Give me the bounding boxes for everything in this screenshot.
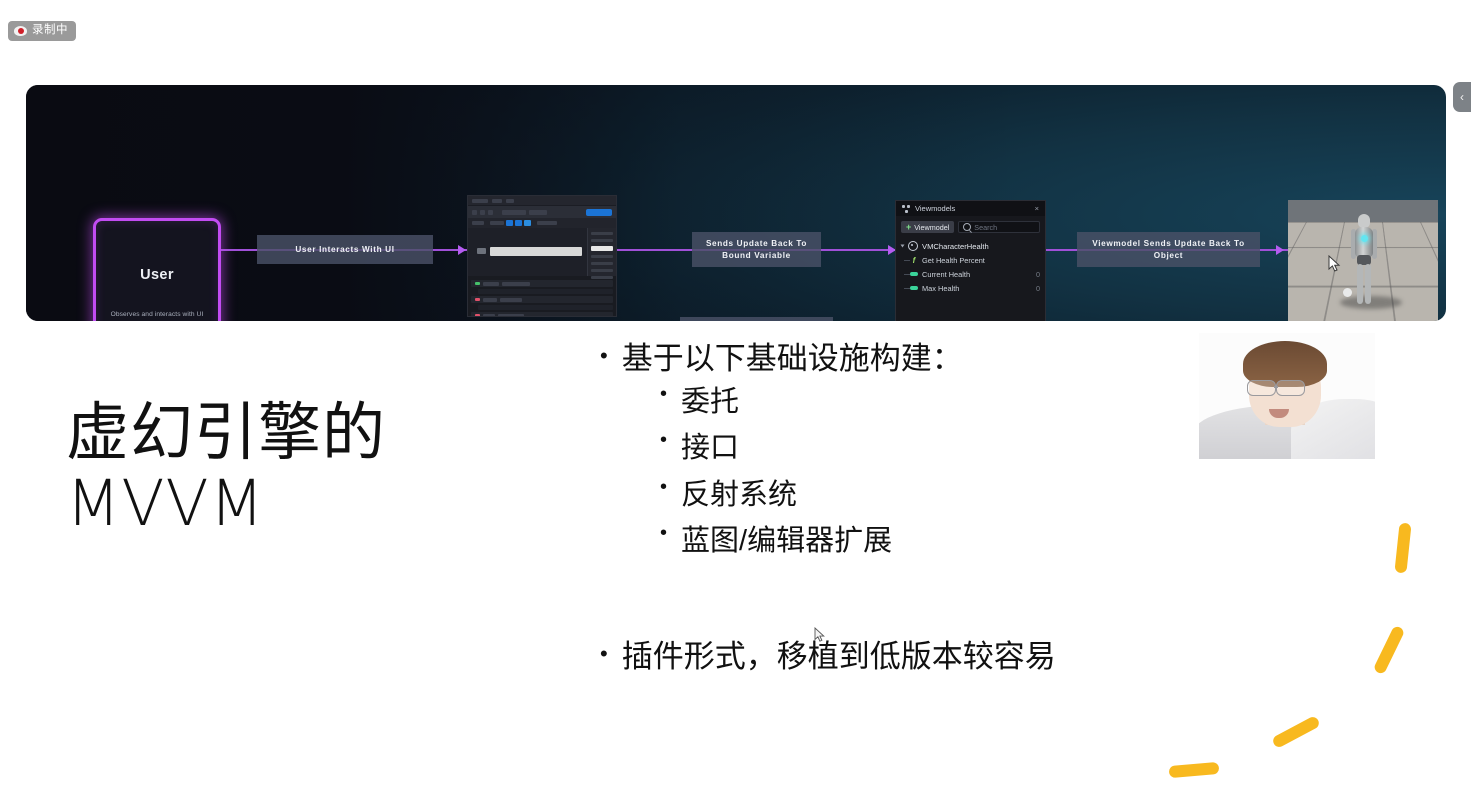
viewmodel-search-input[interactable]: Search <box>958 221 1040 233</box>
bullet-marker: • <box>660 379 667 409</box>
tree-root-label: VMCharacterHealth <box>922 242 989 251</box>
close-icon[interactable]: × <box>1035 204 1039 213</box>
record-dot-icon <box>14 26 27 36</box>
tree-row-root[interactable]: VMCharacterHealth <box>901 239 1040 253</box>
variable-pill-icon <box>910 272 918 276</box>
edge-label-viewmodel-sends-update: Viewmodel Sends Update Back To Object <box>1077 232 1260 267</box>
bullet-text: 委托 <box>681 379 739 425</box>
bullet-item-blueprint-editor: • 蓝图/编辑器扩展 <box>660 518 1200 564</box>
user-node-title: User <box>140 267 174 283</box>
diagram-node-viewmodel: Viewmodels × + Viewmodel Search <box>895 200 1046 321</box>
function-icon: f <box>910 256 918 265</box>
edge-arrow-user-to-umg <box>458 245 466 255</box>
decorative-dash-2 <box>1373 625 1406 675</box>
tree-item-value: 0 <box>1036 270 1040 279</box>
bullet-item-reflection: • 反射系统 <box>660 472 1200 518</box>
bullet-item-interface: • 接口 <box>660 425 1200 471</box>
bullet-text: 反射系统 <box>681 472 797 518</box>
viewmodels-toolbar: + Viewmodel Search <box>896 216 1045 235</box>
bullet-item-delegate: • 委托 <box>660 379 1200 425</box>
decorative-dash-3 <box>1271 715 1321 749</box>
mannequin-character <box>1347 214 1381 306</box>
umg-designer-canvas <box>468 228 616 276</box>
tree-row-current-health[interactable]: Current Health 0 <box>901 267 1040 281</box>
bullet-list: • 基于以下基础设施构建： • 委托 • 接口 • 反射系统 • 蓝图/编辑器扩… <box>600 340 1200 564</box>
add-viewmodel-button[interactable]: + Viewmodel <box>901 221 954 233</box>
tree-item-label: Get Health Percent <box>922 256 985 265</box>
bullet-item-plugin: • 插件形式，移植到低版本较容易 <box>600 638 1240 677</box>
viewmodel-tree: VMCharacterHealth f Get Health Percent C… <box>896 235 1045 295</box>
webcam-overlay <box>1199 333 1375 459</box>
bullet-marker: • <box>600 340 608 372</box>
glasses-icon <box>1247 380 1276 396</box>
decorative-dash-4 <box>1169 762 1220 778</box>
bullet-text: 蓝图/编辑器扩展 <box>681 518 892 564</box>
edge-label-sends-update-back: Sends Update Back To Bound Variable <box>692 232 821 267</box>
page-title-line1: 虚幻引擎的 <box>66 398 536 469</box>
diagram-node-umg-widget: UMG Widget Frontend UI which user intera… <box>467 195 617 321</box>
tree-row-max-health[interactable]: Max Health 0 <box>901 281 1040 295</box>
edge-label-updates-bound-variables: Updates Bound Variables Using FieldNotif… <box>680 317 833 321</box>
umg-editor-screenshot <box>467 195 617 317</box>
umg-secondary-toolbar <box>468 218 616 228</box>
plus-icon: + <box>906 223 911 232</box>
viewmodels-tab[interactable]: Viewmodels × <box>896 201 1045 216</box>
mannequin-core-glow <box>1361 235 1368 242</box>
mvvm-diagram-panel: User Interacts With UI Sends Update Back… <box>26 85 1446 321</box>
tree-item-label: Current Health <box>922 270 970 279</box>
umg-toolbar <box>468 206 616 218</box>
decorative-dash-1 <box>1394 523 1411 574</box>
tree-row-get-health-percent[interactable]: f Get Health Percent <box>901 253 1040 267</box>
umg-details-panel <box>587 228 616 276</box>
viewmodels-icon <box>902 205 910 213</box>
bullet-marker: • <box>660 518 667 548</box>
bullet-text: 插件形式，移植到低版本较容易 <box>622 638 1056 677</box>
edge-arrow-viewmodel-to-object <box>1276 245 1284 255</box>
viewmodels-panel: Viewmodels × + Viewmodel Search <box>895 200 1046 321</box>
tree-item-label: Max Health <box>922 284 959 293</box>
bullet-item-infrastructure: • 基于以下基础设施构建： <box>600 340 1200 379</box>
umg-bindings-list <box>468 276 616 317</box>
page-title: 虚幻引擎的 MVVM <box>66 398 536 539</box>
bullet-list-secondary: • 插件形式，移植到低版本较容易 <box>600 638 1240 677</box>
diagram-node-object: Object in Application Any object outside… <box>1288 200 1438 321</box>
chevron-left-icon: ‹ <box>1460 90 1464 104</box>
viewmodel-class-icon <box>908 241 918 251</box>
bullet-marker: • <box>600 638 608 670</box>
search-icon <box>963 223 971 231</box>
bullet-text: 接口 <box>681 425 739 471</box>
add-viewmodel-label: Viewmodel <box>914 223 949 232</box>
collapse-panel-handle[interactable]: ‹ <box>1453 82 1471 112</box>
viewmodel-search-placeholder: Search <box>974 223 997 232</box>
bullet-marker: • <box>660 425 667 455</box>
object-viewport-screenshot <box>1288 200 1438 321</box>
user-node-subtitle: Observes and interacts with UI <box>111 311 204 318</box>
recording-badge: 录制中 <box>8 21 76 41</box>
tree-item-value: 0 <box>1036 284 1040 293</box>
diagram-node-user: User Observes and interacts with UI <box>93 218 221 321</box>
bullet-marker: • <box>660 472 667 502</box>
umg-caption: UMG Widget Frontend UI which user intera… <box>467 317 617 321</box>
recording-label: 录制中 <box>32 25 68 37</box>
edge-label-user-interacts: User Interacts With UI <box>257 235 433 264</box>
variable-pill-icon <box>910 286 918 290</box>
chevron-down-icon[interactable] <box>901 245 905 248</box>
bullet-text: 基于以下基础设施构建： <box>622 340 963 379</box>
page-title-line2: MVVM <box>66 469 536 540</box>
umg-tabbar <box>468 196 616 205</box>
viewmodels-tab-label: Viewmodels <box>915 204 955 213</box>
